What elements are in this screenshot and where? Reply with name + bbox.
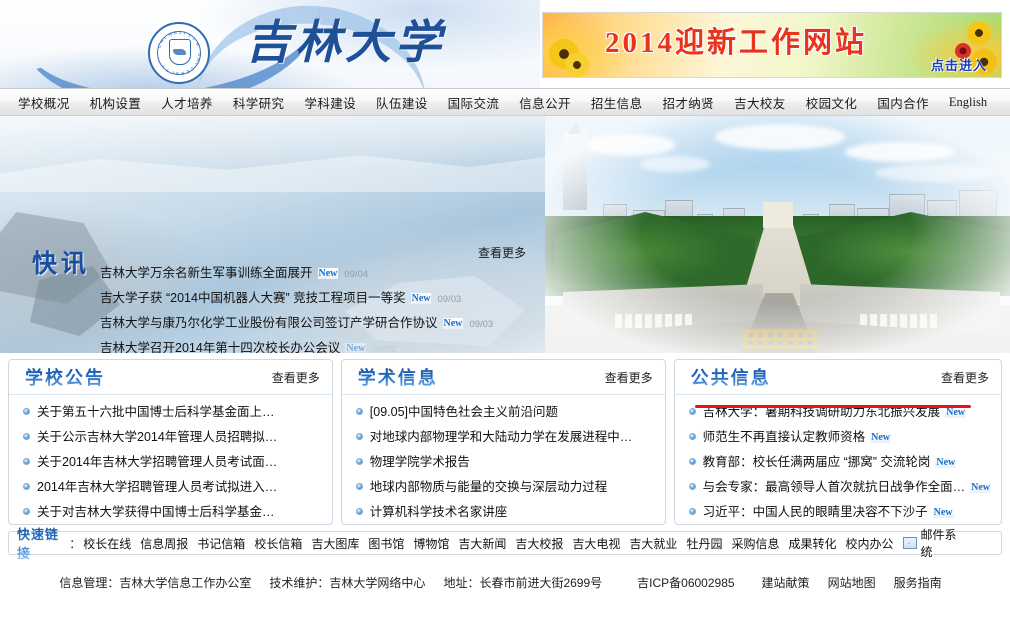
bullet-icon [689, 508, 696, 515]
panel-title: 学校公告 [25, 364, 105, 390]
list-item-title: 关于第五十六批中国博士后科学基金面上… [37, 405, 275, 419]
list-item-title: 2014年吉林大学招聘管理人员考试拟进入… [37, 480, 277, 494]
quick-link-item[interactable]: 吉大就业 [629, 535, 677, 552]
page-root: JILIN UNIVERSITY · CHINA 吉林大学 2014迎新工作网站… [0, 0, 1010, 619]
panel-header: 学术信息查看更多 [342, 360, 665, 395]
nav-item-13[interactable]: 国内合作 [867, 93, 939, 112]
bullet-icon [689, 483, 696, 490]
bullet-icon [689, 408, 696, 415]
content-panel-2: 学术信息查看更多[09.05]中国特色社会主义前沿问题对地球内部物理学和大陆动力… [341, 359, 666, 525]
list-item[interactable]: 关于第五十六批中国博士后科学基金面上… [23, 400, 322, 425]
panel-item-list: 吉林大学：暑期科技调研助力东北振兴发展New师范生不再直接认定教师资格New教育… [675, 395, 1001, 525]
footer-link[interactable]: 建站献策 [762, 574, 810, 591]
mail-system-label: 邮件系统 [921, 526, 965, 560]
bullet-icon [356, 483, 363, 490]
footer-link[interactable]: 网站地图 [828, 574, 876, 591]
quick-link-item[interactable]: 采购信息 [731, 535, 779, 552]
main-navigation: 学校概况机构设置人才培养科学研究学科建设队伍建设国际交流信息公开招生信息招才纳贤… [0, 88, 1010, 116]
bullet-icon [356, 433, 363, 440]
university-seal-icon[interactable]: JILIN UNIVERSITY · CHINA [148, 22, 210, 84]
nav-item-4[interactable]: 科学研究 [223, 93, 295, 112]
new-badge: New [933, 507, 954, 518]
list-item[interactable]: 物理学院学术报告 [356, 450, 655, 475]
panel-item-list: [09.05]中国特色社会主义前沿问题对地球内部物理学和大陆动力学在发展进程中…… [342, 395, 665, 525]
flash-news-item[interactable]: 吉大学子获 “2014中国机器人大赛” 竞技工程项目一等奖New09/03 [100, 286, 530, 311]
panel-header: 公共信息查看更多 [675, 360, 1001, 395]
nav-item-5[interactable]: 学科建设 [294, 93, 366, 112]
quick-link-item[interactable]: 吉大图库 [311, 535, 359, 552]
flash-news-date: 09/03 [469, 319, 493, 330]
footer-address: 地址：长春市前进大街2699号 [443, 574, 602, 591]
quick-links-bar: 快速链接 ： 校长在线信息周报书记信箱校长信箱吉大图库图书馆博物馆吉大新闻吉大校… [8, 531, 1002, 555]
campus-photo[interactable] [545, 116, 1010, 353]
bullet-icon [356, 408, 363, 415]
list-item-title: 关于对吉林大学获得中国博士后科学基金… [37, 505, 275, 519]
new-badge: New [443, 318, 464, 329]
quick-link-item[interactable]: 成果转化 [788, 535, 836, 552]
footer-info-manage: 信息管理：吉林大学信息工作办公室 [59, 574, 251, 591]
flash-news-date: 09/04 [344, 269, 368, 280]
bullet-icon [356, 458, 363, 465]
footer-icp: 吉ICP备06002985 [637, 574, 734, 591]
panel-item-list: 关于第五十六批中国博士后科学基金面上…关于公示吉林大学2014年管理人员招聘拟…… [9, 395, 332, 525]
list-item[interactable]: 关于2014年吉林大学招聘管理人员考试面… [23, 450, 322, 475]
quick-link-item[interactable]: 图书馆 [368, 535, 404, 552]
panel-title: 公共信息 [691, 364, 771, 390]
new-badge: New [318, 268, 339, 279]
flash-news-item[interactable]: 吉林大学召开2014年第十四次校长办公会议New09/02 [100, 336, 530, 353]
nav-item-14[interactable]: English [939, 95, 997, 110]
site-footer: 信息管理：吉林大学信息工作办公室 技术维护：吉林大学网络中心 地址：长春市前进大… [0, 564, 1010, 600]
new-badge: New [970, 482, 991, 493]
list-item-title: 计算机科学技术名家讲座 [370, 505, 508, 519]
bullet-icon [23, 458, 30, 465]
seal-ring-text: JILIN UNIVERSITY · CHINA [150, 24, 208, 82]
bullet-icon [23, 433, 30, 440]
panel-title: 学术信息 [358, 364, 438, 390]
footer-tech-support: 技术维护：吉林大学网络中心 [269, 574, 425, 591]
quick-link-item[interactable]: 校内办公 [845, 535, 893, 552]
nav-item-10[interactable]: 招才纳贤 [652, 93, 724, 112]
list-item-title: [09.05]中国特色社会主义前沿问题 [370, 405, 558, 419]
new-badge: New [345, 343, 366, 353]
panel-more-link[interactable]: 查看更多 [272, 369, 320, 386]
mail-system-link[interactable]: 邮件系统 [903, 526, 994, 560]
university-wordmark[interactable]: 吉林大学 [245, 10, 445, 76]
list-item[interactable]: 习近平：中国人民的眼睛里决容不下沙子New [689, 500, 991, 525]
list-item-title: 师范生不再直接认定教师资格 [703, 430, 866, 444]
content-panel-1: 学校公告查看更多关于第五十六批中国博士后科学基金面上…关于公示吉林大学2014年… [8, 359, 333, 525]
flash-news-more-link[interactable]: 查看更多 [478, 244, 526, 261]
nav-item-11[interactable]: 吉大校友 [724, 93, 796, 112]
flash-news-title-text: 吉林大学万余名新生军事训练全面展开 [100, 266, 313, 280]
banner-title: 2014迎新工作网站 [605, 19, 945, 61]
quick-link-item[interactable]: 校长信箱 [254, 535, 302, 552]
flash-news-list: 吉林大学万余名新生军事训练全面展开New09/04吉大学子获 “2014中国机器… [100, 261, 530, 353]
site-header: JILIN UNIVERSITY · CHINA 吉林大学 2014迎新工作网站… [0, 0, 1010, 88]
flash-news-item[interactable]: 吉林大学与康乃尔化学工业股份有限公司签订产学研合作协议New09/03 [100, 311, 530, 336]
flash-news-item[interactable]: 吉林大学万余名新生军事训练全面展开New09/04 [100, 261, 530, 286]
bullet-icon [689, 458, 696, 465]
list-item[interactable]: 计算机科学技术名家讲座 [356, 500, 655, 525]
bullet-icon [23, 508, 30, 515]
nav-item-7[interactable]: 国际交流 [438, 93, 510, 112]
quick-link-item[interactable]: 书记信箱 [197, 535, 245, 552]
envelope-icon [903, 537, 917, 549]
list-item[interactable]: 对地球内部物理学和大陆动力学在发展进程中… [356, 425, 655, 450]
photo-vignette [545, 116, 1010, 353]
quick-link-item[interactable]: 吉大电视 [572, 535, 620, 552]
bullet-icon [356, 508, 363, 515]
list-item[interactable]: [09.05]中国特色社会主义前沿问题 [356, 400, 655, 425]
quick-links-label: 快速链接 [17, 524, 69, 562]
quick-link-item[interactable]: 校长在线 [83, 535, 131, 552]
nav-item-3[interactable]: 人才培养 [151, 93, 223, 112]
list-item[interactable]: 地球内部物质与能量的交换与深层动力过程 [356, 475, 655, 500]
sunflower-icon [967, 21, 991, 45]
flash-news-date: 09/02 [372, 344, 396, 353]
nav-item-12[interactable]: 校园文化 [796, 93, 868, 112]
panel-more-link[interactable]: 查看更多 [941, 369, 989, 386]
list-item-title: 教育部：校长任满两届应 “挪窝” 交流轮岗 [703, 455, 931, 469]
quick-link-item[interactable]: 吉大校报 [515, 535, 563, 552]
flash-news-title-text: 吉林大学召开2014年第十四次校长办公会议 [100, 341, 340, 353]
list-item[interactable]: 关于对吉林大学获得中国博士后科学基金… [23, 500, 322, 525]
list-item-title: 关于2014年吉林大学招聘管理人员考试面… [37, 455, 277, 469]
nav-item-6[interactable]: 队伍建设 [366, 93, 438, 112]
list-item-title: 对地球内部物理学和大陆动力学在发展进程中… [370, 430, 633, 444]
quick-link-item[interactable]: 吉大新闻 [458, 535, 506, 552]
new-badge: New [935, 457, 956, 468]
quick-link-item[interactable]: 信息周报 [140, 535, 188, 552]
list-item-title: 物理学院学术报告 [370, 455, 470, 469]
hero-section: 快讯 查看更多 吉林大学万余名新生军事训练全面展开New09/04吉大学子获 “… [0, 116, 1010, 353]
new-badge: New [870, 432, 891, 443]
quick-link-item[interactable]: 牡丹园 [686, 535, 722, 552]
flash-news-title: 快讯 [32, 244, 90, 280]
list-item[interactable]: 2014年吉林大学招聘管理人员考试拟进入… [23, 475, 322, 500]
list-item[interactable]: 与会专家：最高领导人首次就抗日战争作全面…New [689, 475, 991, 500]
bullet-icon [689, 433, 696, 440]
list-item[interactable]: 教育部：校长任满两届应 “挪窝” 交流轮岗New [689, 450, 991, 475]
bullet-icon [23, 408, 30, 415]
flash-news-title-text: 吉林大学与康乃尔化学工业股份有限公司签订产学研合作协议 [100, 316, 438, 330]
list-item-title: 关于公示吉林大学2014年管理人员招聘拟… [37, 430, 277, 444]
list-item[interactable]: 关于公示吉林大学2014年管理人员招聘拟… [23, 425, 322, 450]
new-badge: New [411, 293, 432, 304]
panel-more-link[interactable]: 查看更多 [605, 369, 653, 386]
nav-item-2[interactable]: 机构设置 [80, 93, 152, 112]
content-panels: 学校公告查看更多关于第五十六批中国博士后科学基金面上…关于公示吉林大学2014年… [0, 353, 1010, 525]
welcome-banner[interactable]: 2014迎新工作网站 点击进入 [542, 12, 1002, 78]
nav-item-9[interactable]: 招生信息 [581, 93, 653, 112]
content-panel-3: 公共信息查看更多吉林大学：暑期科技调研助力东北振兴发展New师范生不再直接认定教… [674, 359, 1002, 525]
list-item-title: 地球内部物质与能量的交换与深层动力过程 [370, 480, 608, 494]
quick-link-item[interactable]: 博物馆 [413, 535, 449, 552]
banner-subtitle[interactable]: 点击进入 [931, 55, 987, 74]
bullet-icon [23, 483, 30, 490]
sunflower-icon [565, 53, 589, 77]
list-item-title: 习近平：中国人民的眼睛里决容不下沙子 [703, 505, 928, 519]
flash-news-panel: 快讯 查看更多 吉林大学万余名新生军事训练全面展开New09/04吉大学子获 “… [0, 116, 545, 353]
quick-links-colon: ： [69, 535, 81, 552]
nav-item-1[interactable]: 学校概况 [8, 93, 80, 112]
flash-news-date: 09/03 [437, 294, 461, 305]
quick-links-items: 校长在线信息周报书记信箱校长信箱吉大图库图书馆博物馆吉大新闻吉大校报吉大电视吉大… [83, 535, 902, 552]
ice-background-icon [0, 146, 545, 192]
flash-news-title-text: 吉大学子获 “2014中国机器人大赛” 竞技工程项目一等奖 [100, 291, 406, 305]
list-item-title: 与会专家：最高领导人首次就抗日战争作全面… [703, 480, 966, 494]
panel-header: 学校公告查看更多 [9, 360, 332, 395]
list-item[interactable]: 吉林大学：暑期科技调研助力东北振兴发展New [689, 400, 991, 425]
nav-item-8[interactable]: 信息公开 [509, 93, 581, 112]
red-underline-annotation [695, 405, 971, 408]
list-item[interactable]: 师范生不再直接认定教师资格New [689, 425, 991, 450]
new-badge: New [945, 407, 966, 418]
footer-link[interactable]: 服务指南 [894, 574, 942, 591]
footer-links: 建站献策网站地图服务指南 [753, 574, 951, 591]
